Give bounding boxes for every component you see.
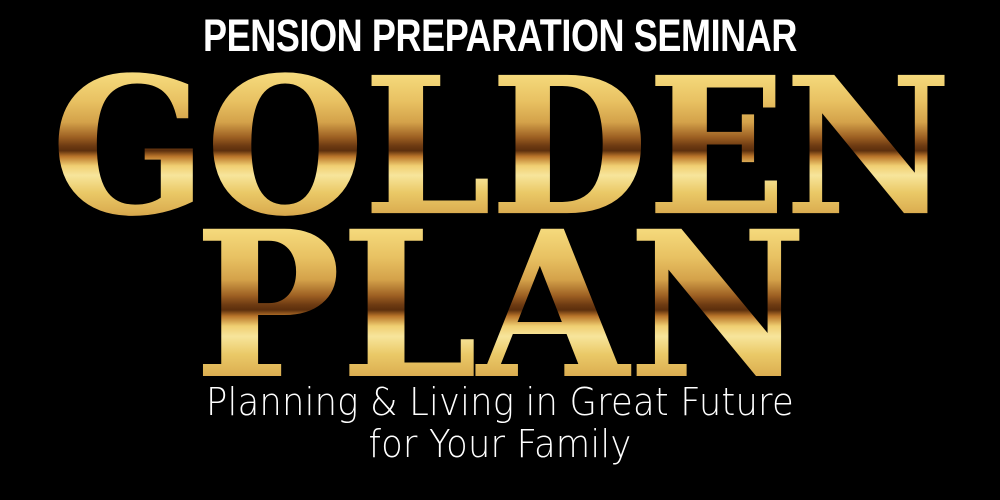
title-line-2-wrapper: PLAN PLAN xyxy=(0,205,1000,401)
poster-canvas: PENSION PREPARATION SEMINAR GOLDEN GOLDE… xyxy=(0,0,1000,500)
subtitle-block: Planning & Living in Great Future for Yo… xyxy=(35,381,965,465)
subtitle-line-2: for Your Family xyxy=(35,423,965,465)
title-plan-fill: PLAN xyxy=(194,205,806,407)
subtitle-line-1: Planning & Living in Great Future xyxy=(35,381,965,423)
title-plan: PLAN PLAN xyxy=(194,205,806,407)
